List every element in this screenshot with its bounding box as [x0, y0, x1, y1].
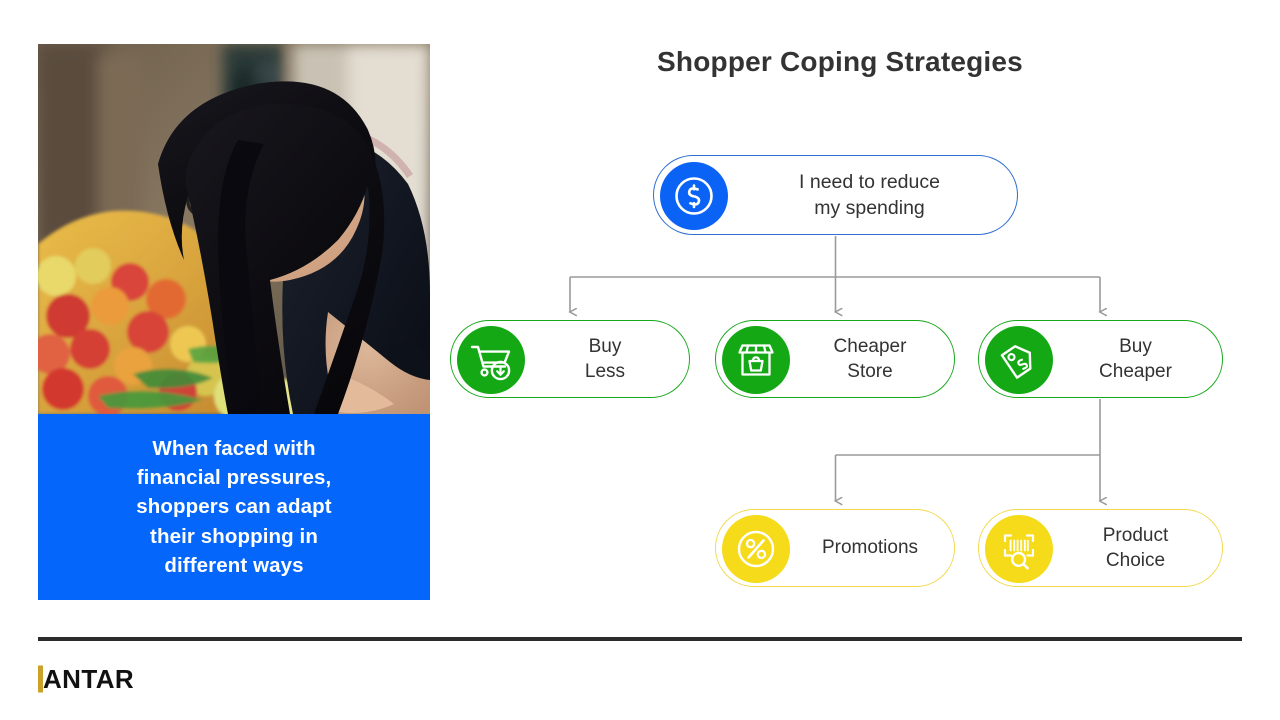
- node-root[interactable]: I need to reduce my spending: [653, 155, 1018, 235]
- svg-text:ANTAR: ANTAR: [43, 664, 134, 694]
- node-buy-less[interactable]: Buy Less: [450, 320, 690, 398]
- price-tag-icon: [985, 326, 1053, 394]
- node-product-choice[interactable]: Product Choice: [978, 509, 1223, 587]
- node-promotions[interactable]: Promotions: [715, 509, 955, 587]
- storefront-icon: [722, 326, 790, 394]
- node-cheaper-store[interactable]: Cheaper Store: [715, 320, 955, 398]
- kantar-logo: ANTAR: [36, 664, 166, 694]
- footer-divider: [38, 637, 1242, 641]
- barcode-scan-search-icon: [985, 515, 1053, 583]
- coping-strategies-diagram: I need to reduce my spending Buy Less: [0, 0, 1280, 720]
- dollar-coin-icon: [660, 162, 728, 230]
- percent-circle-icon: [722, 515, 790, 583]
- shopping-cart-down-arrow-icon: [457, 326, 525, 394]
- node-buy-cheaper[interactable]: Buy Cheaper: [978, 320, 1223, 398]
